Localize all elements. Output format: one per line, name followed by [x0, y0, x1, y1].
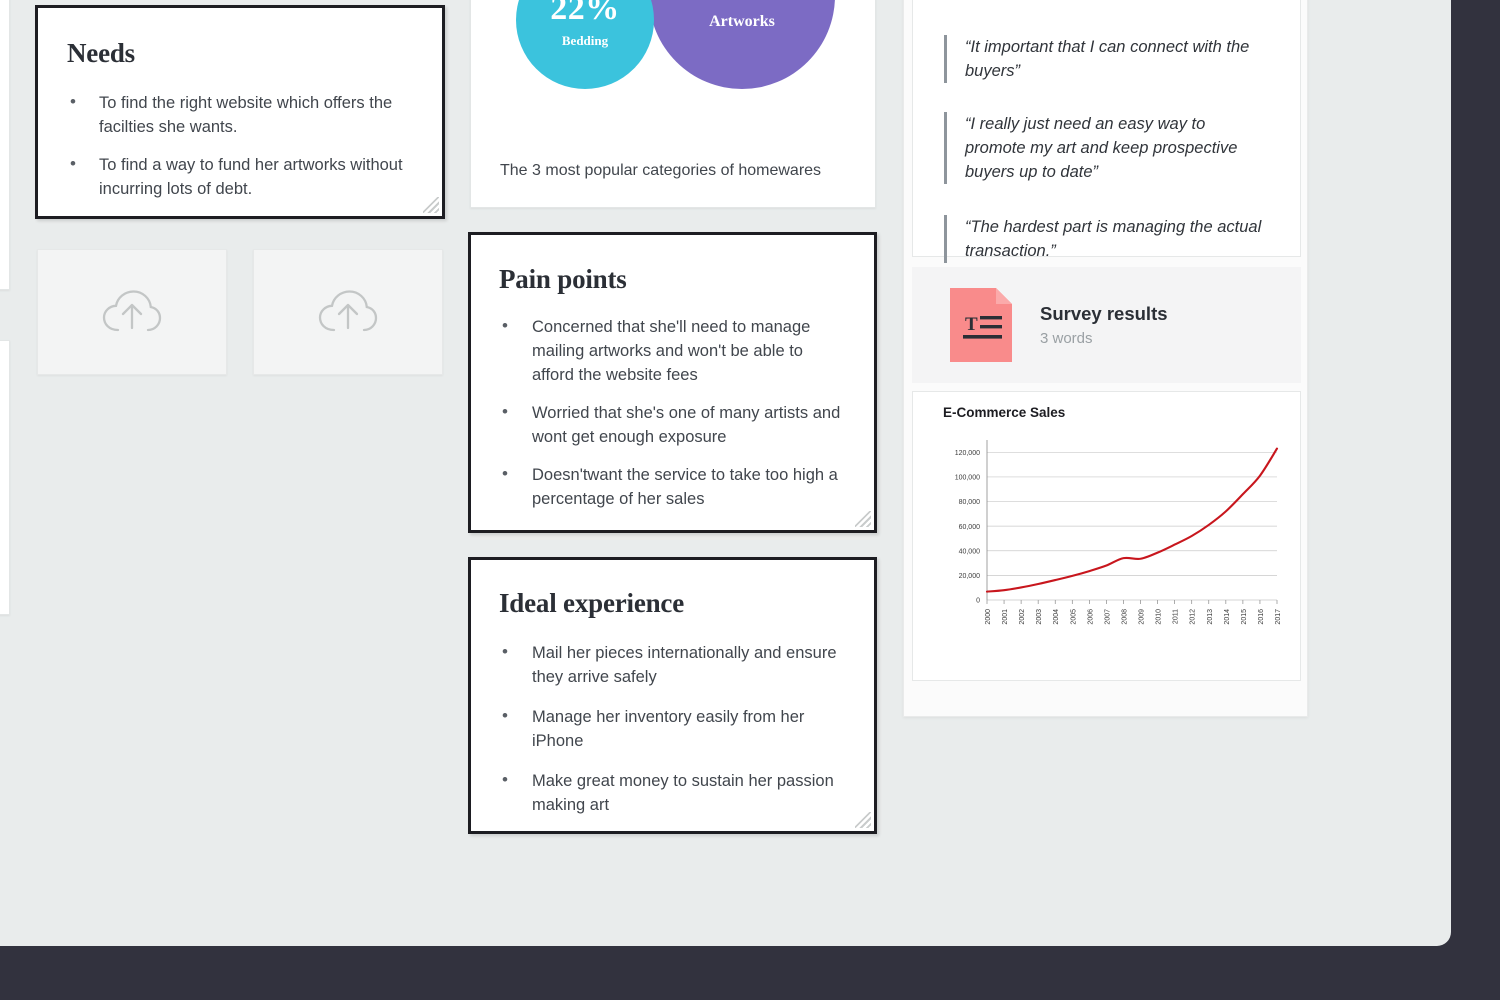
svg-text:60,000: 60,000: [959, 524, 981, 531]
svg-text:40,000: 40,000: [959, 548, 981, 555]
circle-percent: 22%: [550, 0, 620, 26]
list-item: Concerned that she'll need to manage mai…: [499, 315, 848, 387]
list-item: Mail her pieces internationally and ensu…: [499, 641, 848, 689]
svg-text:2002: 2002: [1019, 609, 1026, 625]
survey-results-text: Survey results 3 words: [1040, 303, 1168, 347]
svg-text:120,000: 120,000: [955, 450, 980, 457]
circle-label: Artworks: [709, 13, 775, 31]
svg-text:2017: 2017: [1275, 609, 1282, 625]
svg-text:2012: 2012: [1190, 609, 1197, 625]
svg-text:2003: 2003: [1036, 609, 1043, 625]
quotes-card[interactable]: Quotes “It important that I can connect …: [912, 0, 1301, 257]
svg-text:2006: 2006: [1087, 609, 1094, 625]
ecommerce-sales-line-chart: 020,00040,00060,00080,000100,000120,0002…: [927, 428, 1287, 668]
svg-text:2007: 2007: [1104, 609, 1111, 625]
survey-results-title: Survey results: [1040, 303, 1168, 325]
needs-card[interactable]: Needs To find the right website which of…: [35, 5, 445, 219]
offscreen-card-left-bottom[interactable]: [0, 340, 10, 615]
svg-text:2009: 2009: [1139, 609, 1146, 625]
ideal-experience-card[interactable]: Ideal experience Mail her pieces interna…: [468, 557, 877, 834]
quote-item: “The hardest part is managing the actual…: [944, 215, 1264, 263]
svg-text:2011: 2011: [1173, 609, 1180, 624]
list-item: Worried that she's one of many artists a…: [499, 401, 848, 449]
list-item: To find a way to fund her artworks witho…: [67, 153, 414, 201]
whiteboard-canvas[interactable]: Needs To find the right website which of…: [0, 0, 1451, 946]
svg-text:2014: 2014: [1224, 609, 1231, 625]
circle-bedding: 22% Bedding: [516, 0, 654, 89]
svg-text:2015: 2015: [1241, 609, 1248, 625]
circle-percent: 68%: [699, 0, 785, 4]
svg-text:2004: 2004: [1053, 609, 1060, 625]
pain-points-card-title: Pain points: [499, 264, 848, 295]
homewares-chart-card[interactable]: 68% Artworks 22% Bedding The 3 most popu…: [470, 0, 876, 208]
circle-label: Bedding: [562, 33, 608, 49]
svg-text:T: T: [965, 314, 978, 335]
list-item: Make great money to sustain her passion …: [499, 769, 848, 817]
ideal-experience-card-title: Ideal experience: [499, 588, 848, 619]
homewares-caption: The 3 most popular categories of homewar…: [500, 162, 821, 180]
list-item: To find the right website which offers t…: [67, 91, 414, 139]
needs-card-title: Needs: [67, 38, 414, 69]
survey-results-file-row[interactable]: T Survey results 3 words: [912, 267, 1301, 383]
svg-text:2001: 2001: [1002, 609, 1009, 625]
svg-text:2005: 2005: [1070, 609, 1077, 625]
svg-text:2013: 2013: [1207, 609, 1214, 625]
cloud-upload-icon: [101, 288, 163, 336]
svg-text:80,000: 80,000: [959, 499, 981, 506]
research-panel[interactable]: Quotes “It important that I can connect …: [903, 0, 1308, 717]
chart-title: E-Commerce Sales: [943, 405, 1065, 420]
list-item: Manage her inventory easily from her iPh…: [499, 705, 848, 753]
image-upload-placeholder-2[interactable]: [253, 249, 443, 375]
svg-text:0: 0: [976, 598, 980, 605]
image-upload-placeholder-1[interactable]: [37, 249, 227, 375]
text-document-icon: T: [950, 288, 1012, 362]
svg-text:2016: 2016: [1258, 609, 1265, 625]
svg-text:2008: 2008: [1121, 609, 1128, 625]
svg-text:2000: 2000: [985, 609, 992, 625]
ideal-experience-bullet-list: Mail her pieces internationally and ensu…: [499, 641, 848, 817]
ecommerce-sales-chart-card[interactable]: E-Commerce Sales 020,00040,00060,00080,0…: [912, 391, 1301, 681]
svg-text:100,000: 100,000: [955, 475, 980, 482]
offscreen-card-left-top[interactable]: [0, 0, 10, 290]
cloud-upload-icon: [317, 288, 379, 336]
svg-text:20,000: 20,000: [959, 573, 981, 580]
resize-handle[interactable]: [855, 511, 871, 527]
pain-points-card[interactable]: Pain points Concerned that she'll need t…: [468, 232, 877, 533]
list-item: Doesn'twant the service to take too high…: [499, 463, 848, 511]
quote-item: “I really just need an easy way to promo…: [944, 112, 1264, 184]
svg-text:2010: 2010: [1156, 609, 1163, 625]
pain-points-bullet-list: Concerned that she'll need to manage mai…: [499, 315, 848, 511]
needs-bullet-list: To find the right website which offers t…: [67, 91, 414, 201]
circle-artworks: 68% Artworks: [649, 0, 835, 89]
survey-results-word-count: 3 words: [1040, 330, 1168, 347]
quote-item: “It important that I can connect with th…: [944, 35, 1264, 83]
